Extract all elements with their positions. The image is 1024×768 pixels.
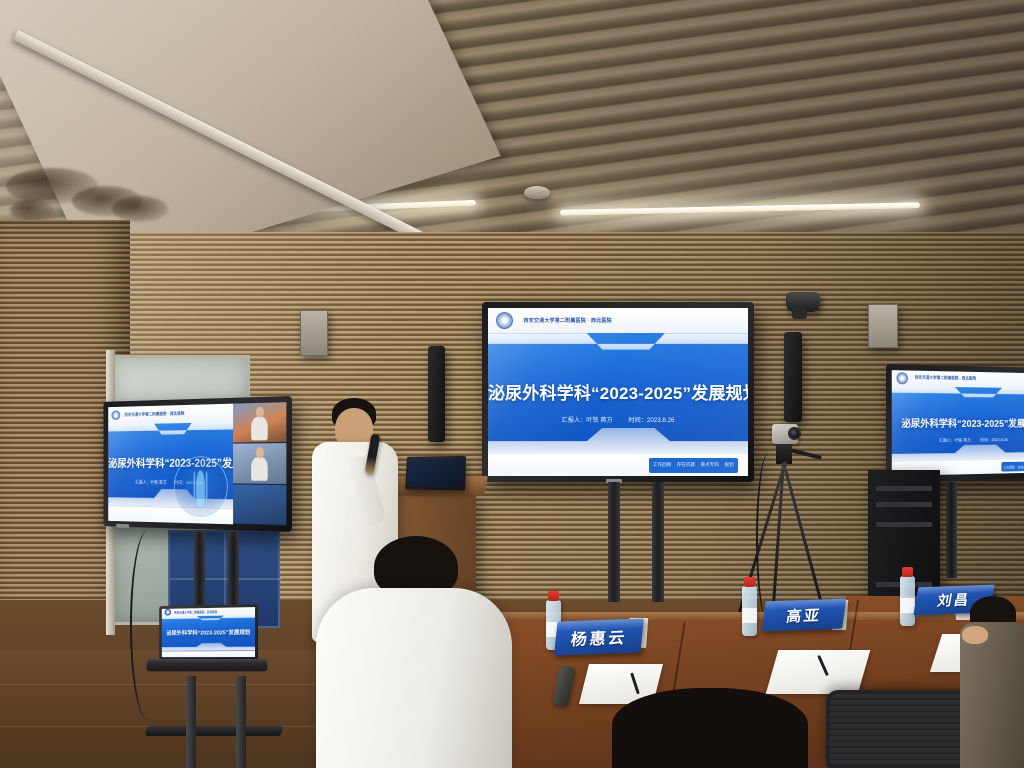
tv-brand-mark — [116, 524, 129, 528]
audience-shirt — [316, 588, 512, 768]
audience-member-foreground — [612, 688, 808, 768]
audience-member-right — [960, 596, 1024, 768]
secondary-display-screen[interactable]: 西安交通大学第二附属医院 · 西北医院 泌尿外科学科“2023-2025”发展规… — [103, 396, 292, 532]
nameplate: 高亚 — [762, 599, 847, 632]
water-stain-3 — [112, 196, 168, 222]
slide-org-name: 西安交通大学第二附属医院 · 西北医院 — [524, 317, 612, 324]
water-bottle — [742, 586, 757, 636]
cart-pole — [186, 676, 196, 768]
third-display-content: 西安交通大学第二附属医院 · 西北医院 泌尿外科学科“2023-2025”发展规… — [892, 370, 1024, 476]
footer-tab: 重点专科 — [701, 462, 719, 468]
participant-thumbnail[interactable] — [233, 402, 286, 444]
slide-footer-tabs: 工作回顾 存在问题 重点专科 — [1001, 462, 1024, 472]
slide-wave-top — [488, 333, 748, 360]
slide-org-name: 西安交通大学第二附属医院 · 西北医院 — [124, 411, 184, 418]
slide-wave-bottom — [162, 642, 255, 651]
participant-thumbnail[interactable] — [233, 484, 286, 526]
slide-footer — [162, 651, 255, 658]
presentation-slide: 西安交通大学第二附属医院 · 西北医院 泌尿外科学科“2023-2025”发展规… — [488, 308, 748, 476]
slide-body: 泌尿外科学科“2023-2025”发展规划 汇报人：叶铁 蒋方 时间：2023.… — [488, 333, 748, 454]
footer-tab: 规划 — [725, 462, 734, 468]
third-display-stand-pole — [946, 482, 957, 578]
slide-wave-top — [892, 386, 1024, 404]
nameplate: 杨惠云 — [554, 619, 644, 656]
main-display-stand-pole — [652, 482, 664, 602]
slide-footer: 工作回顾 存在问题 重点专科 规划 — [488, 454, 748, 476]
slide-title: 泌尿外科学科“2023-2025”发展规划 — [162, 628, 255, 637]
participant-avatar — [251, 457, 268, 481]
university-logo-icon — [112, 411, 120, 420]
presenter-label: 汇报人：叶铁 蒋方 — [939, 437, 970, 443]
footer-tab: 存在问题 — [1018, 464, 1024, 469]
audience-member-front — [316, 536, 512, 768]
laptop-keyboard-base[interactable] — [145, 659, 268, 671]
secondary-display-content: 西安交通大学第二附属医院 · 西北医院 泌尿外科学科“2023-2025”发展规… — [108, 402, 286, 526]
university-logo-icon — [897, 372, 908, 384]
slide-wave-bottom — [488, 425, 748, 454]
speaker-column-right-icon — [784, 332, 802, 422]
slide-title: 泌尿外科学科“2023-2025”发展规划 — [488, 379, 748, 404]
footer-tab: 工作回顾 — [653, 462, 671, 468]
main-display-content: 西安交通大学第二附属医院 · 西北医院 泌尿外科学科“2023-2025”发展规… — [488, 308, 748, 476]
slide-title: 泌尿外科学科“2023-2025”发展规划 — [892, 415, 1024, 430]
slide-header: 西安交通大学第二附属医院 · 西北医院 — [488, 308, 748, 333]
slide-wave-top — [108, 422, 233, 442]
university-logo-icon — [496, 312, 514, 330]
main-display-screen[interactable]: 西安交通大学第二附属医院 · 西北医院 泌尿外科学科“2023-2025”发展规… — [482, 302, 754, 482]
participant-avatar — [251, 416, 268, 440]
speaker-column-left-icon — [428, 346, 445, 442]
slide-wave-bottom — [892, 442, 1024, 462]
laptop-screen: 西安交通大学第二附属医院 · 西北医院 泌尿外科学科“2023-2025”发展规… — [162, 607, 255, 657]
main-display-stand-pole — [608, 482, 620, 602]
wall-speaker-left-icon — [300, 310, 328, 356]
slide-subtitle: 汇报人：叶铁 蒋方 时间：2023.8.26 — [488, 415, 748, 424]
secondary-display-stand-base — [145, 726, 283, 736]
presentation-slide: 西安交通大学第二附属医院 · 西北医院 泌尿外科学科“2023-2025”发展规… — [892, 370, 1024, 476]
slide-body: 泌尿外科学科“2023-2025”发展规划 汇报人：叶铁 蒋方 时间：2023.… — [892, 386, 1024, 462]
slide-org-name: 西安交通大学第二附属医院 · 西北医院 — [915, 376, 976, 382]
water-stain-4 — [10, 200, 54, 220]
wall-speaker-right-icon — [868, 304, 898, 348]
presentation-slide: 西安交通大学第二附属医院 · 西北医院 泌尿外科学科“2023-2025”发展规… — [162, 607, 255, 657]
anatomy-diagram-icon — [174, 457, 228, 517]
camera-cable — [756, 452, 782, 624]
footer-tab: 工作回顾 — [1003, 464, 1014, 469]
university-logo-icon — [165, 609, 171, 616]
audience-hair — [612, 688, 808, 768]
presenter-label: 汇报人：叶铁 蒋方 — [135, 480, 167, 486]
shared-screen-region: 西安交通大学第二附属医院 · 西北医院 泌尿外科学科“2023-2025”发展规… — [108, 404, 233, 525]
audience-jacket — [960, 622, 1024, 768]
cart-pole — [236, 676, 246, 768]
water-bottle — [900, 576, 915, 626]
slide-wave-top — [162, 615, 255, 624]
cart-laptop[interactable]: 西安交通大学第二附属医院 · 西北医院 泌尿外科学科“2023-2025”发展规… — [148, 604, 266, 676]
ceiling-camera-icon — [786, 292, 820, 312]
date-label: 时间：2023.8.26 — [628, 415, 674, 424]
slide-footer-tabs: 工作回顾 存在问题 重点专科 规划 — [649, 458, 738, 473]
slide-subtitle: 汇报人：叶铁 蒋方 时间：2023.8.26 — [892, 437, 1024, 444]
conference-room-scene: 西安交通大学第二附属医院 · 西北医院 泌尿外科学科“2023-2025”发展规… — [0, 0, 1024, 768]
footer-tab: 存在问题 — [677, 462, 695, 468]
date-label: 时间：2023.8.26 — [980, 437, 1007, 443]
laptop-lid: 西安交通大学第二附属医院 · 西北医院 泌尿外科学科“2023-2025”发展规… — [159, 604, 258, 660]
hand — [962, 626, 988, 644]
camera-lens-icon — [788, 427, 801, 440]
podium-laptop[interactable] — [405, 456, 466, 491]
slide-org-name: 西安交通大学第二附属医院 · 西北医院 — [174, 610, 217, 615]
slide-body: 泌尿外科学科“2023-2025”发展规划 — [162, 615, 255, 651]
third-display-screen[interactable]: 西安交通大学第二附属医院 · 西北医院 泌尿外科学科“2023-2025”发展规… — [886, 364, 1024, 482]
presenter-label: 汇报人：叶铁 蒋方 — [562, 415, 613, 424]
smoke-detector-icon — [524, 186, 550, 199]
participant-thumbnail[interactable] — [233, 443, 286, 484]
participant-thumbnail-strip — [233, 402, 286, 526]
